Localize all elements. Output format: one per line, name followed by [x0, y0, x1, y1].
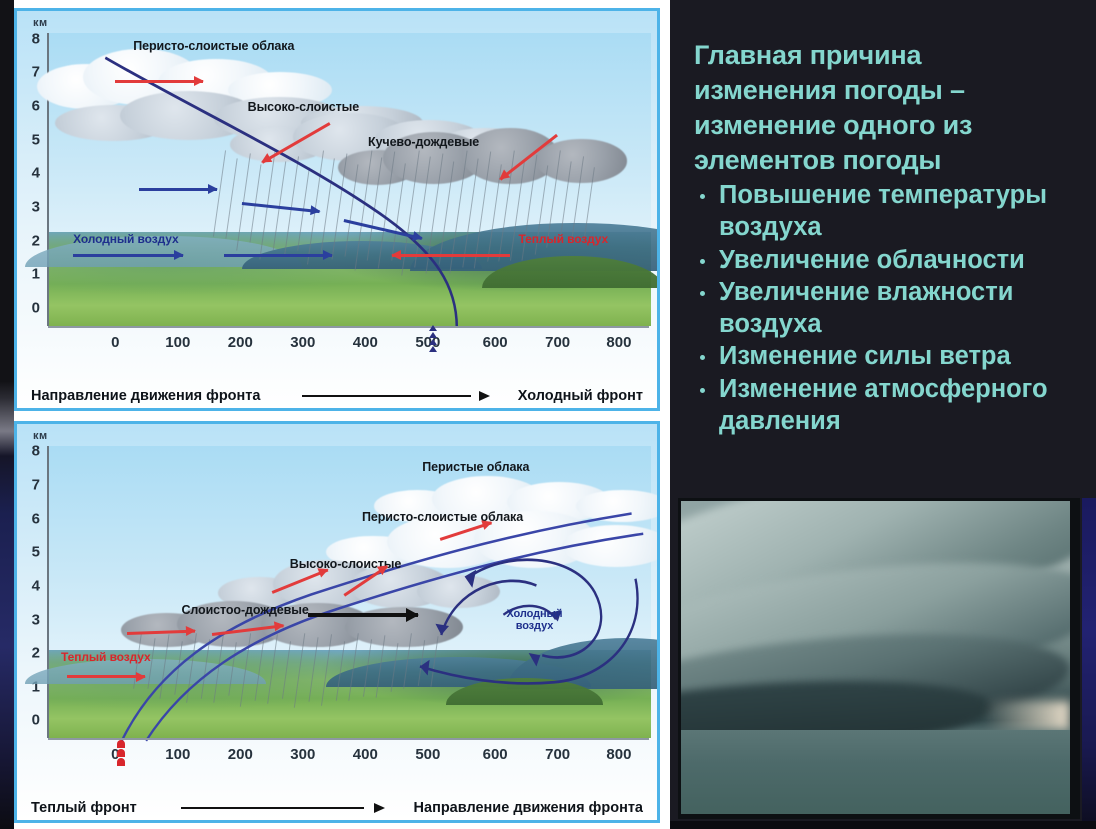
x-tick: 100: [165, 334, 190, 351]
flow-arrow-red: [127, 630, 195, 632]
y-tick: 8: [32, 443, 47, 460]
list-item: Повышение температуры воздуха: [694, 180, 1090, 243]
list-item: Изменение силы ветра: [694, 341, 1090, 373]
direction-arrow-icon: [145, 803, 406, 813]
x-tick: 0: [111, 334, 119, 351]
x-tick: 400: [353, 334, 378, 351]
direction-arrow-icon: [268, 391, 509, 401]
caption-right-label: Холодный фронт: [518, 388, 643, 404]
x-ticks-warm: 0 100 200 300 400 500 600 700 800: [48, 746, 649, 768]
left-dark-edge: [0, 0, 14, 829]
caption-left-label: Направление движения фронта: [31, 388, 260, 404]
list-item: Изменение атмосферного давления: [694, 374, 1090, 437]
sea-surface: [681, 730, 1070, 815]
scene-cold-front: Перисто-слоистые облака Высоко-слоистые …: [49, 33, 651, 326]
cloud-label-cirrostratus: Перисто-слоистые облака: [362, 510, 523, 524]
cloud-label-altostratus: Высоко-слоистые: [248, 100, 359, 114]
x-axis-cold: [48, 326, 649, 328]
x-tick: 200: [228, 334, 253, 351]
y-tick: 0: [32, 712, 47, 729]
diagram-warm-front: км 8 7 6 5 4 3 2 1 0: [14, 421, 660, 824]
x-tick: 100: [165, 746, 190, 763]
cold-front-symbol: [429, 325, 437, 352]
cloud-label-cirrostratus: Перисто-слоистые облака: [133, 39, 294, 53]
heading-line-2: изменения погоды –: [694, 73, 1090, 108]
y-tick: 6: [32, 510, 47, 527]
caption-warm-front: Теплый фронт Направление движения фронта: [17, 800, 657, 816]
x-axis-warm: [48, 738, 649, 740]
x-tick: 800: [606, 334, 631, 351]
label-warm-air: Теплый воздух: [519, 232, 609, 246]
list-item-label: Повышение температуры воздуха: [719, 180, 1090, 243]
y-tick: 7: [32, 476, 47, 493]
bullet-dot-icon: [700, 194, 705, 199]
x-tick: 500: [415, 746, 440, 763]
bullet-dot-icon: [700, 259, 705, 264]
list-item-label: Увеличение облачности: [719, 245, 1090, 277]
weather-causes-text: Главная причина изменения погоды – измен…: [694, 38, 1090, 437]
x-tick: 700: [545, 746, 570, 763]
list-item-label: Увеличение влажности воздуха: [719, 277, 1090, 340]
x-tick: 800: [606, 746, 631, 763]
shelf-cloud-over-sea-photo: [681, 501, 1070, 814]
weather-elements-list: Повышение температуры воздуха Увеличение…: [694, 180, 1090, 437]
y-tick: 4: [32, 165, 47, 182]
horizon-light-gap: [984, 701, 1070, 729]
bullet-dot-icon: [700, 355, 705, 360]
x-tick: 200: [228, 746, 253, 763]
cloud-label-nimbostratus: Слоистоо-дождевые: [181, 603, 308, 617]
diagrams-column: км 8 7 6 5 4 3 2 1 0: [0, 0, 670, 829]
y-tick: 5: [32, 544, 47, 561]
list-item-label: Изменение силы ветра: [719, 341, 1090, 373]
x-tick: 300: [290, 334, 315, 351]
y-tick: 2: [32, 232, 47, 249]
y-tick: 2: [32, 645, 47, 662]
text-and-photo-column: Главная причина изменения погоды – измен…: [670, 0, 1096, 829]
x-tick: 300: [290, 746, 315, 763]
warm-front-symbol: [117, 740, 125, 766]
list-item-label: Изменение атмосферного давления: [719, 374, 1090, 437]
y-tick: 3: [32, 611, 47, 628]
caption-cold-front: Направление движения фронта Холодный фро…: [17, 388, 657, 404]
x-ticks-cold: 0 100 200 300 400 500 600 700 800: [48, 334, 649, 356]
heading-line-3: изменение одного из: [694, 108, 1090, 143]
x-tick: 600: [483, 746, 508, 763]
cold-front-boundary: [49, 33, 651, 326]
y-tick: 5: [32, 131, 47, 148]
y-axis-unit-cold: км: [33, 17, 48, 29]
y-tick: 0: [32, 299, 47, 316]
cloud-label-cumulonimbus: Кучево-дождевые: [368, 135, 479, 149]
list-item: Увеличение облачности: [694, 245, 1090, 277]
heading-line-1: Главная причина: [694, 38, 1090, 73]
bullet-dot-icon: [700, 291, 705, 296]
y-tick: 3: [32, 199, 47, 216]
x-tick: 400: [353, 746, 378, 763]
label-warm-air: Теплый воздух: [61, 650, 151, 664]
label-cold-air: Холодный воздух: [73, 232, 178, 246]
x-tick: 700: [545, 334, 570, 351]
y-tick: 1: [32, 266, 47, 283]
label-cold-air: Холодный воздух: [494, 609, 574, 632]
cloud-label-cirrus: Перистые облака: [422, 460, 529, 474]
list-item: Увеличение влажности воздуха: [694, 277, 1090, 340]
right-blue-edge: [1082, 498, 1096, 829]
bullet-dot-icon: [700, 388, 705, 393]
scene-warm-front: Перистые облака Перисто-слоистые облака …: [49, 446, 651, 739]
y-axis-unit-warm: км: [33, 430, 48, 442]
photo-frame: [678, 498, 1080, 819]
heading-line-4: элементов погоды: [694, 143, 1090, 178]
caption-left-label: Теплый фронт: [31, 800, 137, 816]
caption-right-label: Направление движения фронта: [414, 800, 643, 816]
x-tick: 600: [483, 334, 508, 351]
bottom-dark-edge: [670, 821, 1096, 829]
slide-root: км 8 7 6 5 4 3 2 1 0: [0, 0, 1096, 829]
diagram-cold-front: км 8 7 6 5 4 3 2 1 0: [14, 8, 660, 411]
y-tick: 4: [32, 577, 47, 594]
